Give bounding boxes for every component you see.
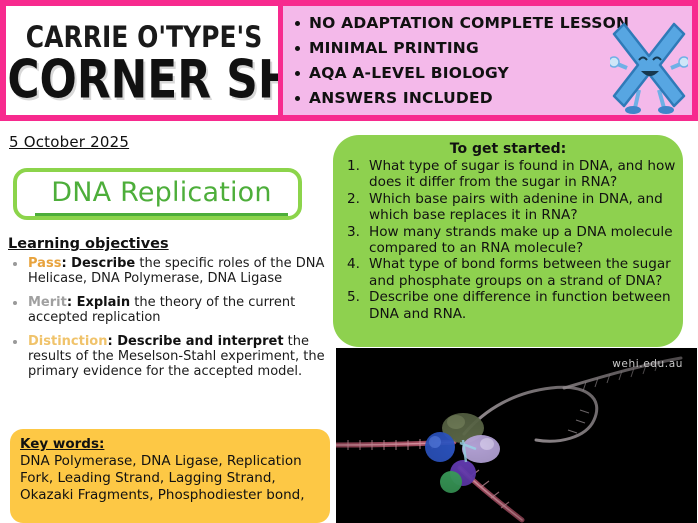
objectives-heading: Learning objectives xyxy=(8,236,169,252)
logo-line-two: CORNER SHOP xyxy=(7,50,278,111)
starter-question: How many strands make up a DNA molecule … xyxy=(339,224,677,257)
dna-replication-image: wehi.edu.au xyxy=(336,348,697,523)
starter-questions-panel: To get started: What type of sugar is fo… xyxy=(333,135,683,347)
objective-level: Merit xyxy=(28,295,67,310)
starter-question: What type of bond forms between the suga… xyxy=(339,256,677,289)
header-banner: CARRIE O'TYPE'S CORNER SHOP NO ADAPTATIO… xyxy=(0,0,698,121)
banner-feature-panel: NO ADAPTATION COMPLETE LESSON MINIMAL PR… xyxy=(283,6,692,115)
objective-item: Distinction: Describe and interpret the … xyxy=(6,334,326,379)
header-banner-inner: CARRIE O'TYPE'S CORNER SHOP NO ADAPTATIO… xyxy=(6,6,692,115)
lesson-date: 5 October 2025 xyxy=(9,133,129,151)
objectives-list: Pass: Describe the specific roles of the… xyxy=(6,256,326,388)
objective-command: Explain xyxy=(77,295,131,310)
key-words-list: DNA Polymerase, DNA Ligase, Replication … xyxy=(20,453,320,504)
dna-replication-fork-graphic xyxy=(336,348,697,523)
key-words-heading: Key words: xyxy=(20,436,320,452)
starter-question: What type of sugar is found in DNA, and … xyxy=(339,158,677,191)
objective-item: Pass: Describe the specific roles of the… xyxy=(6,256,326,286)
objective-command: Describe xyxy=(71,256,135,271)
shop-logo: CARRIE O'TYPE'S CORNER SHOP xyxy=(6,6,278,115)
starter-question: Describe one difference in function betw… xyxy=(339,289,677,322)
image-watermark: wehi.edu.au xyxy=(612,358,683,370)
objective-command: Describe and interpret xyxy=(117,334,283,349)
chromosome-character-icon xyxy=(610,16,688,115)
starter-heading: To get started: xyxy=(339,141,677,157)
starter-question: Which base pairs with adenine in DNA, an… xyxy=(339,191,677,224)
key-words-box: Key words: DNA Polymerase, DNA Ligase, R… xyxy=(10,429,330,523)
lesson-title-box: DNA Replication xyxy=(13,168,302,220)
objective-item: Merit: Explain the theory of the current… xyxy=(6,295,326,325)
starter-question-list: What type of sugar is found in DNA, and … xyxy=(339,158,677,322)
slide-canvas: CARRIE O'TYPE'S CORNER SHOP NO ADAPTATIO… xyxy=(0,0,698,523)
objective-level: Distinction xyxy=(28,334,107,349)
objective-level: Pass xyxy=(28,256,61,271)
page-title: DNA Replication xyxy=(17,177,306,208)
title-underline xyxy=(35,213,288,216)
